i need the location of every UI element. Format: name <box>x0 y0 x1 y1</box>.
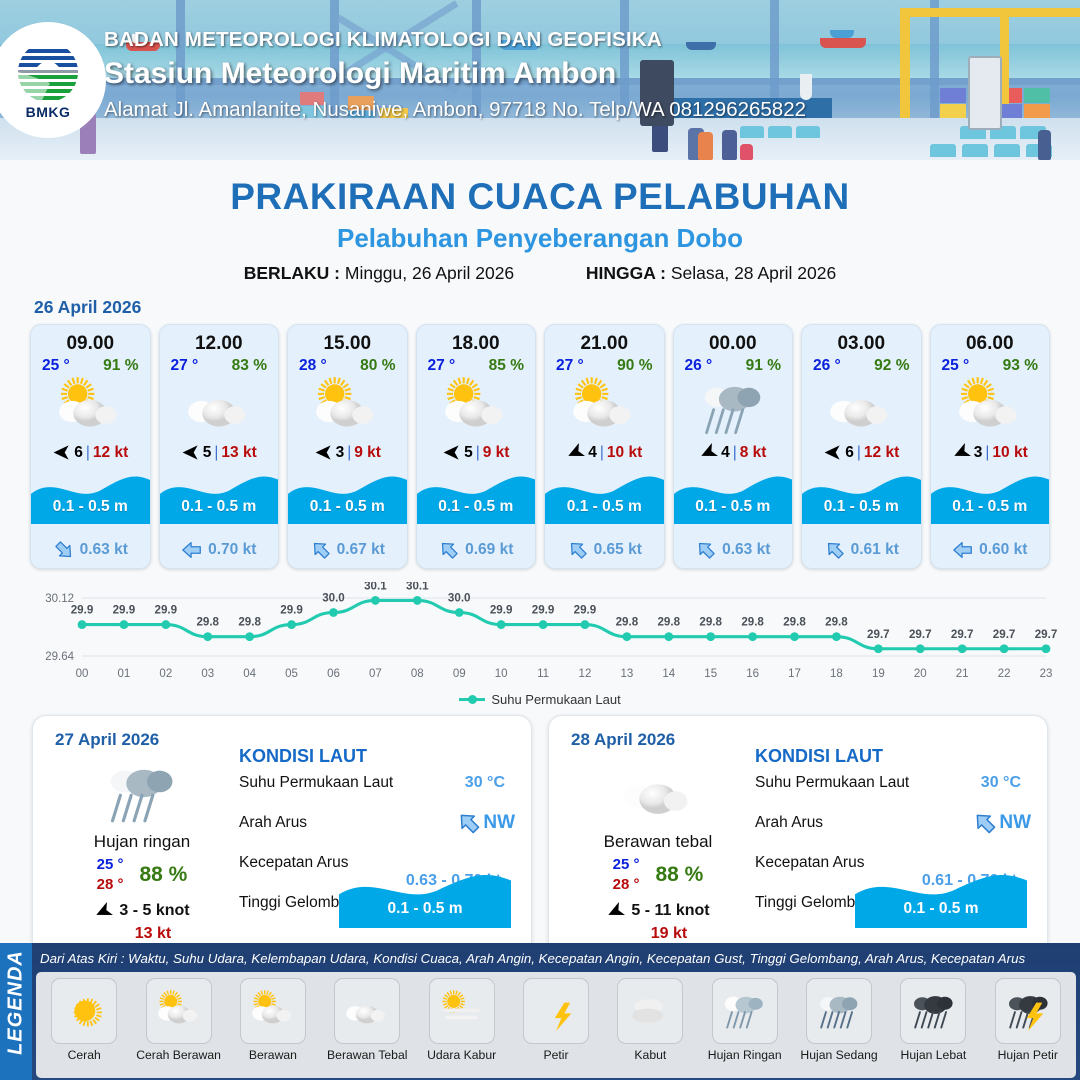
wave-height: 0.1 - 0.5 m <box>160 498 279 516</box>
wind-speed: 4 <box>721 444 730 462</box>
weather-partly-cloudy-icon <box>931 377 1050 439</box>
wind-separator: | <box>86 444 90 462</box>
forecast-wind: 6 | 12 kt <box>31 443 150 462</box>
wind-direction-arrow-icon <box>606 902 625 921</box>
wind-direction-arrow-icon <box>952 443 971 462</box>
forecast-card-row: 09.00 25 ° 91 % 6 | 12 kt 0.1 - 0.5 m 0.… <box>0 324 1080 569</box>
gust-speed: 8 kt <box>740 444 767 462</box>
header-text-block: BADAN METEOROLOGI KLIMATOLOGI DAN GEOFIS… <box>104 28 806 122</box>
svg-text:30.12: 30.12 <box>45 593 74 605</box>
sea-condition-block: KONDISI LAUT Suhu Permukaan Laut 30 °C A… <box>239 746 519 934</box>
forecast-card: 12.00 27 ° 83 % 5 | 13 kt 0.1 - 0.5 m 0.… <box>159 324 280 569</box>
daily-wind: 3 - 5 knot <box>47 902 237 921</box>
legend-item-label: Hujan Ringan <box>708 1048 782 1062</box>
daily-humidity: 88 % <box>139 863 187 887</box>
forecast-current: 0.60 kt <box>931 539 1050 561</box>
terminal-chair <box>768 126 792 138</box>
svg-text:29.7: 29.7 <box>993 628 1016 641</box>
svg-text:07: 07 <box>369 668 382 680</box>
forecast-wind: 5 | 13 kt <box>160 443 279 462</box>
weather-moderate-rain-icon <box>806 978 872 1044</box>
wind-separator: | <box>600 444 604 462</box>
bmkg-logo-text: BMKG <box>26 104 71 120</box>
wind-speed: 3 <box>974 444 983 462</box>
gust-speed: 10 kt <box>607 444 642 462</box>
cargo-container <box>1024 104 1050 119</box>
legend-item-label: Berawan Tebal <box>327 1048 407 1062</box>
wind-separator: | <box>347 444 351 462</box>
terminal-person <box>740 144 753 160</box>
legend-item-label: Cerah <box>68 1048 101 1062</box>
weather-rain-icon <box>47 756 237 830</box>
legend-tab: LEGENDA <box>0 943 32 1080</box>
daily-panel: 28 April 2026 Berawan tebal 25 ° 28 ° 88… <box>548 715 1048 960</box>
daily-temp-max: 28 ° <box>613 875 640 895</box>
daily-temps: 25 ° 28 ° <box>613 855 640 895</box>
forecast-wind: 3 | 9 kt <box>288 443 407 462</box>
wind-speed: 3 <box>336 444 345 462</box>
wind-separator: | <box>214 444 218 462</box>
current-direction-value: NW <box>456 810 515 836</box>
current-speed: 0.63 kt <box>80 541 128 559</box>
forecast-card: 03.00 26 ° 92 % 6 | 12 kt 0.1 - 0.5 m 0.… <box>801 324 922 569</box>
current-speed: 0.63 kt <box>722 541 770 559</box>
weather-partly-cloudy-icon <box>545 377 664 439</box>
svg-text:29.7: 29.7 <box>951 628 974 641</box>
svg-text:29.8: 29.8 <box>699 616 722 629</box>
wind-separator: | <box>857 444 861 462</box>
forecast-current: 0.63 kt <box>674 539 793 561</box>
daily-date: 27 April 2026 <box>55 730 159 750</box>
legend-item: Udara Kabur <box>416 978 506 1076</box>
wind-speed: 5 <box>203 444 212 462</box>
terminal-chair <box>796 126 820 138</box>
gust-speed: 9 kt <box>354 444 381 462</box>
daily-gust: 13 kt <box>47 925 237 943</box>
legend-item-label: Udara Kabur <box>427 1048 496 1062</box>
weather-cloudy-icon <box>563 756 753 830</box>
daily-wind: 5 - 11 knot <box>563 902 753 921</box>
svg-text:04: 04 <box>243 668 256 680</box>
legend-item: Hujan Lebat <box>888 978 978 1076</box>
wind-direction-arrow-icon <box>823 443 842 462</box>
chart-legend: Suhu Permukaan Laut <box>0 692 1080 707</box>
gust-speed: 12 kt <box>864 444 899 462</box>
sea-condition-title: KONDISI LAUT <box>755 746 1035 767</box>
legend-item-label: Cerah Berawan <box>136 1048 221 1062</box>
current-speed: 0.65 kt <box>594 541 642 559</box>
valid-from-label: BERLAKU : <box>244 263 340 283</box>
sst-chart: 30.1229.6429.90029.90129.90229.80329.804… <box>20 582 1060 690</box>
gust-speed: 12 kt <box>93 444 128 462</box>
svg-text:29.8: 29.8 <box>657 616 680 629</box>
bmkg-logo-symbol <box>16 41 80 103</box>
port-crane <box>900 8 1080 17</box>
horizon-ship <box>830 30 854 38</box>
forecast-wind: 5 | 9 kt <box>417 443 536 462</box>
cargo-container <box>940 104 966 119</box>
sst-row: Suhu Permukaan Laut 30 °C <box>755 774 1035 814</box>
legend-item-label: Hujan Sedang <box>800 1048 877 1062</box>
wave-height-value: 0.1 - 0.5 m <box>855 900 1027 918</box>
forecast-wind: 6 | 12 kt <box>802 443 921 462</box>
forecast-time: 15.00 <box>288 333 407 355</box>
current-direction-row: Arah Arus NW <box>239 814 519 854</box>
weather-haze-icon <box>429 978 495 1044</box>
current-speed: 0.67 kt <box>337 541 385 559</box>
page-subtitle: Pelabuhan Penyeberangan Dobo <box>0 223 1080 254</box>
daily-panel: 27 April 2026 Hujan ringan 25 ° 28 ° 88 … <box>32 715 532 960</box>
weather-partly-cloudy-icon <box>417 377 536 439</box>
forecast-time: 18.00 <box>417 333 536 355</box>
weather-fog-icon <box>617 978 683 1044</box>
wind-speed: 6 <box>845 444 854 462</box>
weather-lightning-icon <box>523 978 589 1044</box>
terminal-chair <box>962 144 988 157</box>
forecast-time: 12.00 <box>160 333 279 355</box>
legend-item: Hujan Petir <box>983 978 1073 1076</box>
svg-text:08: 08 <box>411 668 424 680</box>
wave-height: 0.1 - 0.5 m <box>931 498 1050 516</box>
wave-height: 0.1 - 0.5 m <box>417 498 536 516</box>
forecast-current: 0.67 kt <box>288 539 407 561</box>
forecast-wind: 4 | 8 kt <box>674 443 793 462</box>
legend-item-label: Hujan Petir <box>998 1048 1058 1062</box>
svg-text:20: 20 <box>914 668 927 680</box>
port-crane <box>900 8 910 128</box>
current-direction-arrow-icon <box>824 539 846 561</box>
daily-condition: Hujan ringan <box>47 832 237 852</box>
wave-height: 0.1 - 0.5 m <box>674 498 793 516</box>
wind-direction-arrow-icon <box>94 902 113 921</box>
svg-text:17: 17 <box>788 668 801 680</box>
forecast-date: 26 April 2026 <box>34 297 1080 318</box>
valid-until-value: Selasa, 28 April 2026 <box>671 263 836 283</box>
current-direction-value: NW <box>972 810 1031 836</box>
svg-text:29.7: 29.7 <box>1035 628 1058 641</box>
svg-text:13: 13 <box>620 668 633 680</box>
legend-item: Cerah <box>39 978 129 1076</box>
weather-thunderstorm-icon <box>995 978 1061 1044</box>
wind-direction-arrow-icon <box>566 443 585 462</box>
daily-condition: Berawan tebal <box>563 832 753 852</box>
current-direction-arrow-icon <box>310 539 332 561</box>
sst-row: Suhu Permukaan Laut 30 °C <box>239 774 519 814</box>
legend-item: Berawan <box>228 978 318 1076</box>
weather-sunny-icon <box>51 978 117 1044</box>
legend-note: Dari Atas Kiri : Waktu, Suhu Udara, Kele… <box>40 951 1074 966</box>
svg-text:00: 00 <box>76 668 89 680</box>
terminal-chair <box>994 144 1020 157</box>
forecast-wind: 4 | 10 kt <box>545 443 664 462</box>
terminal-floor <box>0 118 1080 160</box>
daily-gust: 19 kt <box>563 925 753 943</box>
info-kiosk <box>968 56 1002 130</box>
terminal-person <box>698 132 713 160</box>
wind-direction-arrow-icon <box>699 443 718 462</box>
cargo-container <box>940 88 966 103</box>
sea-condition-block: KONDISI LAUT Suhu Permukaan Laut 30 °C A… <box>755 746 1035 934</box>
forecast-time: 03.00 <box>802 333 921 355</box>
daily-summary: Berawan tebal 25 ° 28 ° 88 % 5 - 11 knot… <box>563 756 753 943</box>
daily-summary: Hujan ringan 25 ° 28 ° 88 % 3 - 5 knot 1… <box>47 756 237 943</box>
current-speed-label: Kecepatan Arus <box>755 854 864 871</box>
wind-direction-arrow-icon <box>181 443 200 462</box>
svg-text:10: 10 <box>495 668 508 680</box>
legend-item-label: Kabut <box>634 1048 666 1062</box>
current-speed: 0.61 kt <box>851 541 899 559</box>
forecast-card: 21.00 27 ° 90 % 4 | 10 kt 0.1 - 0.5 m 0.… <box>544 324 665 569</box>
wave-height: 0.1 - 0.5 m <box>288 498 407 516</box>
current-direction-label: Arah Arus <box>239 814 307 831</box>
wave-height: 0.1 - 0.5 m <box>31 498 150 516</box>
svg-text:16: 16 <box>746 668 759 680</box>
wind-direction-arrow-icon <box>314 443 333 462</box>
gust-speed: 13 kt <box>221 444 256 462</box>
daily-temp-min: 25 ° <box>97 855 124 875</box>
weather-partly-cloudy-icon <box>31 377 150 439</box>
forecast-current: 0.63 kt <box>31 539 150 561</box>
weather-partly-cloudy-icon <box>288 377 407 439</box>
svg-text:12: 12 <box>579 668 592 680</box>
wind-direction-arrow-icon <box>442 443 461 462</box>
daily-wind-speed: 5 - 11 knot <box>631 902 709 920</box>
svg-text:30.1: 30.1 <box>364 582 387 592</box>
gust-speed: 10 kt <box>992 444 1027 462</box>
svg-text:18: 18 <box>830 668 843 680</box>
legend-bar: LEGENDA Dari Atas Kiri : Waktu, Suhu Uda… <box>0 943 1080 1080</box>
chart-legend-label: Suhu Permukaan Laut <box>491 692 620 707</box>
svg-text:15: 15 <box>704 668 717 680</box>
legend-item: Cerah Berawan <box>133 978 223 1076</box>
chart-legend-marker-icon <box>459 698 485 701</box>
forecast-time: 06.00 <box>931 333 1050 355</box>
svg-text:29.7: 29.7 <box>909 628 932 641</box>
forecast-card: 15.00 28 ° 80 % 3 | 9 kt 0.1 - 0.5 m 0.6… <box>287 324 408 569</box>
sst-value: 30 °C <box>981 774 1021 792</box>
station-address: Alamat Jl. Amanlanite, Nusaniwe, Ambon, … <box>104 98 806 122</box>
validity-row: BERLAKU : Minggu, 26 April 2026 HINGGA :… <box>0 263 1080 284</box>
sst-label: Suhu Permukaan Laut <box>239 774 393 791</box>
forecast-current: 0.70 kt <box>160 539 279 561</box>
legend-item-label: Petir <box>543 1048 568 1062</box>
svg-text:29.8: 29.8 <box>238 616 261 629</box>
forecast-time: 00.00 <box>674 333 793 355</box>
svg-text:29.8: 29.8 <box>825 616 848 629</box>
weather-light-rain-icon <box>712 978 778 1044</box>
forecast-card: 06.00 25 ° 93 % 3 | 10 kt 0.1 - 0.5 m 0.… <box>930 324 1051 569</box>
svg-text:01: 01 <box>118 668 131 680</box>
weather-rain-icon <box>674 377 793 439</box>
page-header: BMKG BADAN METEOROLOGI KLIMATOLOGI DAN G… <box>0 0 1080 160</box>
svg-text:29.9: 29.9 <box>280 604 303 617</box>
wind-separator: | <box>476 444 480 462</box>
current-direction-label: Arah Arus <box>755 814 823 831</box>
svg-text:06: 06 <box>327 668 340 680</box>
weather-cloudy-icon <box>334 978 400 1044</box>
svg-text:29.8: 29.8 <box>783 616 806 629</box>
svg-text:29.9: 29.9 <box>532 604 555 617</box>
weather-sun-cloud-icon <box>146 978 212 1044</box>
legend-item: Hujan Sedang <box>794 978 884 1076</box>
svg-text:23: 23 <box>1040 668 1053 680</box>
current-direction-arrow-icon <box>695 539 717 561</box>
forecast-wind: 3 | 10 kt <box>931 443 1050 462</box>
svg-text:29.9: 29.9 <box>574 604 597 617</box>
page-title: PRAKIRAAN CUACA PELABUHAN <box>0 176 1080 218</box>
terminal-person <box>722 130 737 160</box>
forecast-card: 09.00 25 ° 91 % 6 | 12 kt 0.1 - 0.5 m 0.… <box>30 324 151 569</box>
wind-speed: 6 <box>74 444 83 462</box>
svg-text:30.1: 30.1 <box>406 582 429 592</box>
legend-item-label: Berawan <box>249 1048 297 1062</box>
valid-until-label: HINGGA : <box>586 263 666 283</box>
terminal-person <box>1038 130 1051 160</box>
legend-item: Kabut <box>605 978 695 1076</box>
current-direction-arrow-icon <box>53 539 75 561</box>
wind-separator: | <box>733 444 737 462</box>
svg-text:29.8: 29.8 <box>616 616 639 629</box>
weather-partly-cloudy-icon <box>240 978 306 1044</box>
weather-cloudy-icon <box>802 377 921 439</box>
forecast-time: 21.00 <box>545 333 664 355</box>
daily-temp-hum: 25 ° 28 ° 88 % <box>563 855 753 895</box>
current-direction-arrow-icon <box>972 810 998 836</box>
svg-text:03: 03 <box>201 668 214 680</box>
svg-text:19: 19 <box>872 668 885 680</box>
daily-date: 28 April 2026 <box>571 730 675 750</box>
wave-height: 0.1 - 0.5 m <box>545 498 664 516</box>
forecast-current: 0.65 kt <box>545 539 664 561</box>
station-name: Stasiun Meteorologi Maritim Ambon <box>104 57 806 91</box>
svg-text:29.9: 29.9 <box>113 604 136 617</box>
svg-text:29.9: 29.9 <box>71 604 94 617</box>
legend-item: Petir <box>511 978 601 1076</box>
terminal-chair <box>740 126 764 138</box>
gust-speed: 9 kt <box>483 444 510 462</box>
current-direction-arrow-icon <box>438 539 460 561</box>
forecast-current: 0.69 kt <box>417 539 536 561</box>
wave-graphic <box>855 870 1027 928</box>
svg-text:14: 14 <box>662 668 675 680</box>
title-block: PRAKIRAAN CUACA PELABUHAN Pelabuhan Peny… <box>0 176 1080 284</box>
forecast-card: 18.00 27 ° 85 % 5 | 9 kt 0.1 - 0.5 m 0.6… <box>416 324 537 569</box>
daily-temp-min: 25 ° <box>613 855 640 875</box>
wind-separator: | <box>985 444 989 462</box>
sst-value: 30 °C <box>465 774 505 792</box>
svg-text:09: 09 <box>453 668 466 680</box>
daily-temp-max: 28 ° <box>97 875 124 895</box>
legend-item: Berawan Tebal <box>322 978 412 1076</box>
current-direction-arrow-icon <box>952 539 974 561</box>
terminal-chair <box>930 144 956 157</box>
svg-text:29.8: 29.8 <box>196 616 219 629</box>
daily-wind-speed: 3 - 5 knot <box>119 902 189 920</box>
weather-heavy-rain-icon <box>900 978 966 1044</box>
current-speed: 0.70 kt <box>208 541 256 559</box>
legend-item-label: Hujan Lebat <box>901 1048 967 1062</box>
current-direction-arrow-icon <box>456 810 482 836</box>
svg-text:29.9: 29.9 <box>155 604 178 617</box>
wind-speed: 5 <box>464 444 473 462</box>
horizon-ship <box>820 38 866 48</box>
wind-speed: 4 <box>588 444 597 462</box>
cargo-container <box>1024 88 1050 103</box>
current-speed: 0.60 kt <box>979 541 1027 559</box>
svg-text:29.7: 29.7 <box>867 628 890 641</box>
wave-height-value: 0.1 - 0.5 m <box>339 900 511 918</box>
legend-item: Hujan Ringan <box>700 978 790 1076</box>
svg-text:11: 11 <box>537 668 549 680</box>
daily-panels: 27 April 2026 Hujan ringan 25 ° 28 ° 88 … <box>0 707 1080 960</box>
current-speed: 0.69 kt <box>465 541 513 559</box>
svg-text:30.0: 30.0 <box>448 592 471 605</box>
forecast-card: 00.00 26 ° 91 % 4 | 8 kt 0.1 - 0.5 m 0.6… <box>673 324 794 569</box>
daily-humidity: 88 % <box>655 863 703 887</box>
sea-condition-title: KONDISI LAUT <box>239 746 519 767</box>
svg-text:22: 22 <box>998 668 1011 680</box>
current-direction-arrow-icon <box>567 539 589 561</box>
wave-graphic <box>339 870 511 928</box>
current-speed-label: Kecepatan Arus <box>239 854 348 871</box>
svg-text:30.0: 30.0 <box>322 592 345 605</box>
daily-temps: 25 ° 28 ° <box>97 855 124 895</box>
wind-direction-arrow-icon <box>52 443 71 462</box>
wave-height: 0.1 - 0.5 m <box>802 498 921 516</box>
svg-text:29.9: 29.9 <box>490 604 513 617</box>
weather-cloudy-icon <box>160 377 279 439</box>
current-direction-arrow-icon <box>181 539 203 561</box>
current-direction-row: Arah Arus NW <box>755 814 1035 854</box>
valid-from-value: Minggu, 26 April 2026 <box>345 263 514 283</box>
legend-item-row: Cerah Cerah Berawan Berawan Berawan Teba… <box>36 972 1076 1078</box>
svg-text:21: 21 <box>956 668 969 680</box>
svg-text:05: 05 <box>285 668 298 680</box>
svg-text:29.64: 29.64 <box>45 651 74 663</box>
legend-tab-label: LEGENDA <box>5 942 28 1064</box>
forecast-time: 09.00 <box>31 333 150 355</box>
sst-label: Suhu Permukaan Laut <box>755 774 909 791</box>
svg-text:02: 02 <box>159 668 172 680</box>
svg-text:29.8: 29.8 <box>741 616 764 629</box>
agency-name: BADAN METEOROLOGI KLIMATOLOGI DAN GEOFIS… <box>104 28 806 52</box>
forecast-current: 0.61 kt <box>802 539 921 561</box>
daily-temp-hum: 25 ° 28 ° 88 % <box>47 855 237 895</box>
